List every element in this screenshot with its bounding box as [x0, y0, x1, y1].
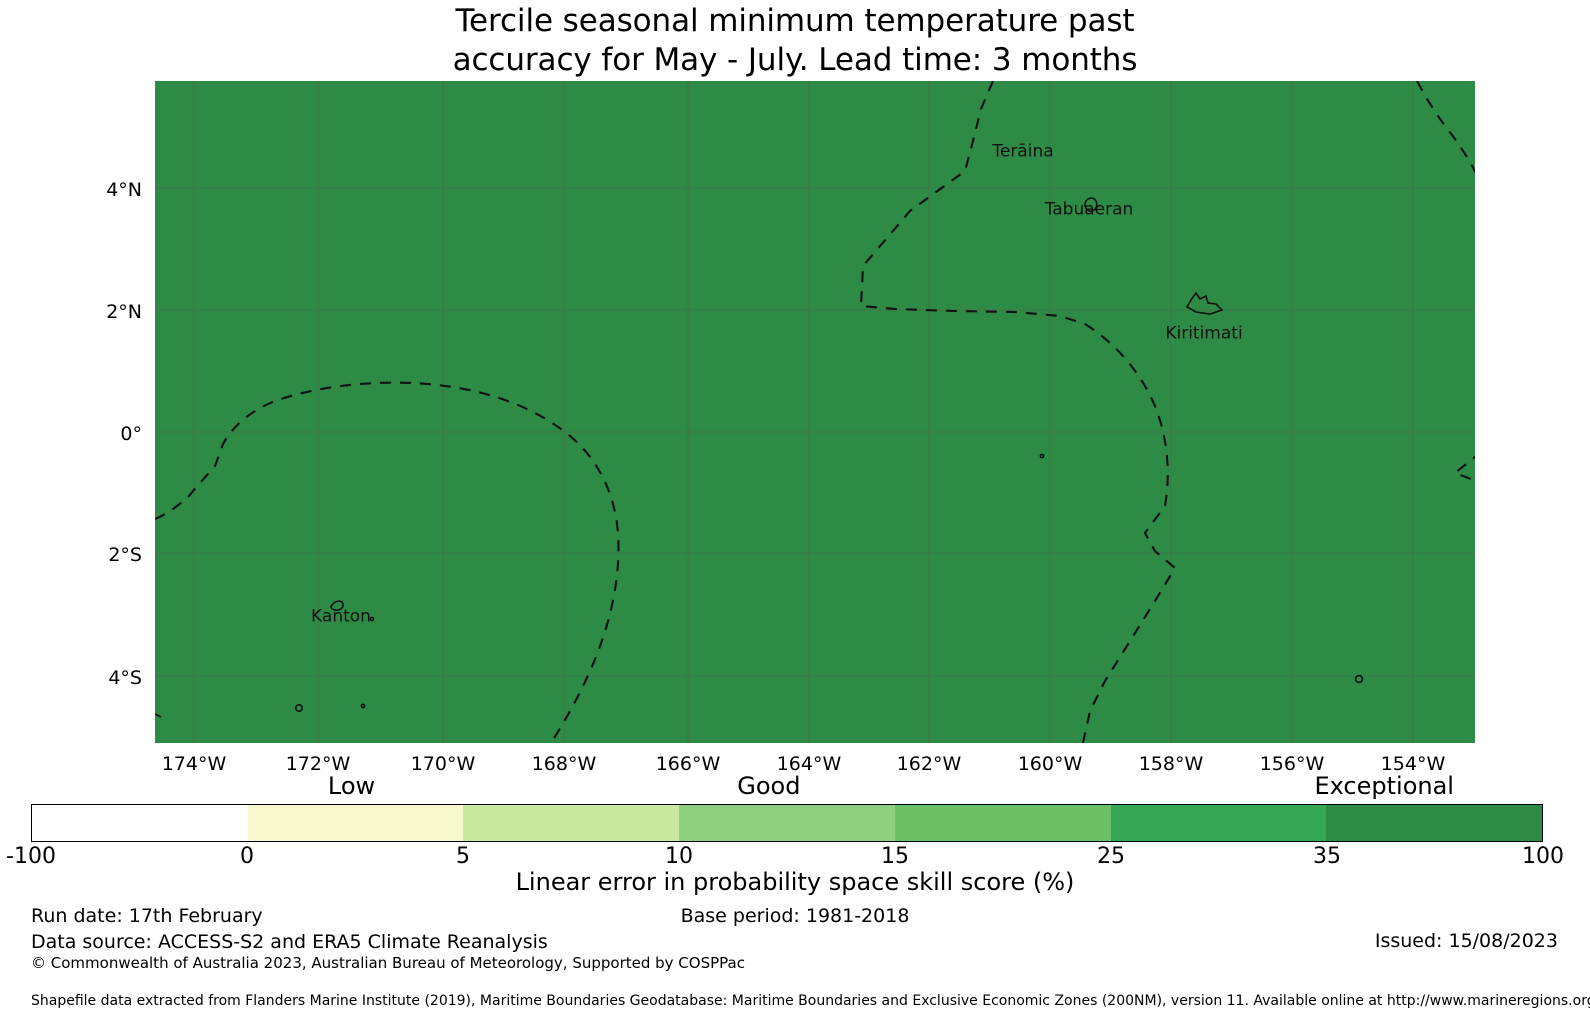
colorbar-segment-5 [1111, 805, 1327, 841]
island-coastlines [155, 81, 1475, 743]
colorbar-category-labels: Low Good Exceptional [31, 772, 1543, 802]
colorbar-segment-3 [679, 805, 895, 841]
colorbar-category-good: Good [737, 772, 800, 800]
colorbar-segment-0 [32, 805, 248, 841]
colorbar-axis-label: Linear error in probability space skill … [0, 868, 1590, 896]
colorbar-category-exceptional: Exceptional [1314, 772, 1454, 800]
colorbar-tick-25: 25 [1097, 844, 1125, 870]
footer: Run date: 17th February Base period: 198… [0, 905, 1590, 1020]
island-label-kiritimati: Kiritimati [1165, 326, 1242, 343]
colorbar-category-low: Low [328, 772, 375, 800]
y-tick-2s: 2°S [108, 546, 142, 565]
copyright-text: © Commonwealth of Australia 2023, Austra… [31, 954, 745, 973]
issued-date-text: Issued: 15/08/2023 [1375, 930, 1558, 953]
y-tick-4s: 4°S [108, 669, 142, 688]
base-period-text: Base period: 1981-2018 [0, 905, 1590, 928]
data-source-text: Data source: ACCESS-S2 and ERA5 Climate … [31, 931, 548, 954]
colorbar-tick-5: 5 [456, 844, 470, 870]
colorbar-segment-2 [463, 805, 679, 841]
colorbar-tick-100: 100 [1522, 844, 1564, 870]
island-label-tabuaeran: Tabuaeran [1045, 202, 1134, 219]
island-label-kanton: Kanton [311, 609, 371, 626]
colorbar-segment-6 [1326, 805, 1542, 841]
title-line-1: Tercile seasonal minimum temperature pas… [0, 2, 1590, 41]
colorbar-tick-labels: -100 0 5 10 15 25 35 100 [31, 844, 1543, 870]
colorbar-segment-1 [248, 805, 464, 841]
colorbar-tick-15: 15 [881, 844, 909, 870]
colorbar-segment-4 [895, 805, 1111, 841]
y-tick-4n: 4°N [106, 181, 142, 200]
page-title: Tercile seasonal minimum temperature pas… [0, 2, 1590, 80]
colorbar[interactable] [31, 804, 1543, 842]
colorbar-tick--100: -100 [6, 844, 56, 870]
island-label-teraina: Terāina [992, 144, 1053, 161]
shapefile-attribution-text: Shapefile data extracted from Flanders M… [31, 992, 1590, 1010]
colorbar-tick-35: 35 [1313, 844, 1341, 870]
colorbar-tick-10: 10 [665, 844, 693, 870]
map-plot-area[interactable] [155, 81, 1475, 743]
y-tick-2n: 2°N [106, 303, 142, 322]
title-line-2: accuracy for May - July. Lead time: 3 mo… [0, 41, 1590, 80]
colorbar-tick-0: 0 [240, 844, 254, 870]
y-tick-0: 0° [120, 425, 142, 444]
